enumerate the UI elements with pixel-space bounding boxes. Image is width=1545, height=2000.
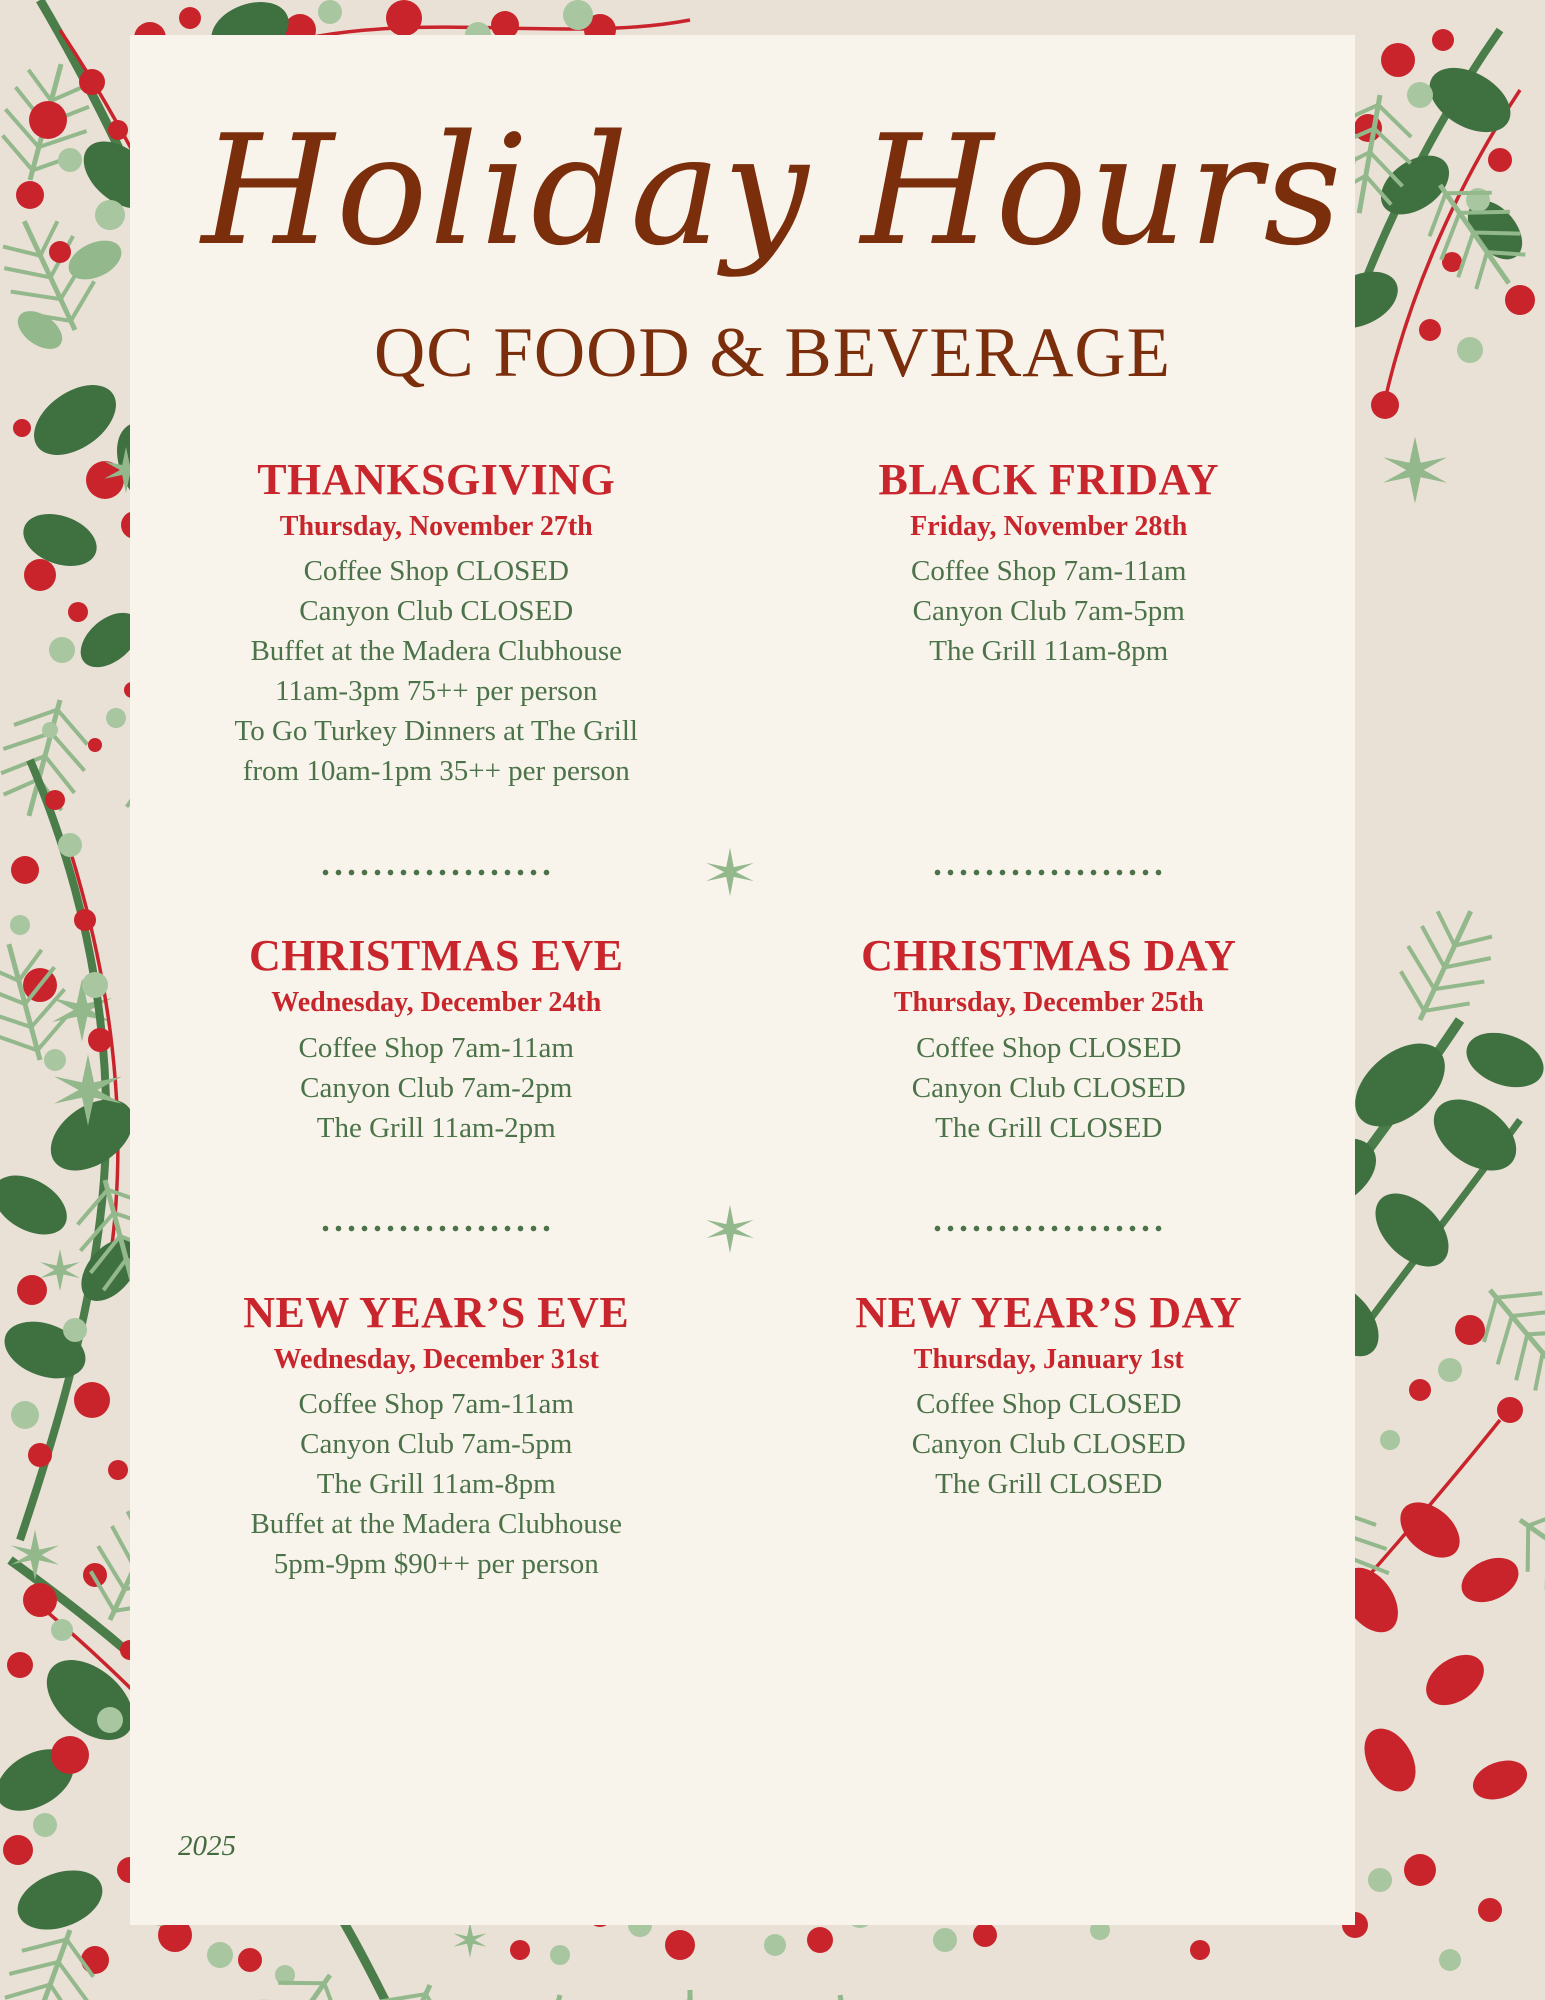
page-title-script: Holiday Hours <box>0 115 1545 267</box>
holiday-hours-line: 11am-3pm 75++ per person <box>140 671 733 711</box>
page-subtitle: QC FOOD & BEVERAGE <box>0 318 1545 389</box>
holiday-name: CHRISTMAS EVE <box>140 931 733 982</box>
holiday-block-new-years-eve: NEW YEAR’S EVE Wednesday, December 31st … <box>130 1288 743 1584</box>
holiday-name: NEW YEAR’S EVE <box>140 1288 733 1339</box>
holiday-date: Thursday, November 27th <box>140 508 733 546</box>
holiday-block-black-friday: BLACK FRIDAY Friday, November 28th Coffe… <box>743 455 1356 791</box>
holiday-hours-line: Canyon Club CLOSED <box>753 1068 1346 1108</box>
holiday-date: Wednesday, December 31st <box>140 1341 733 1379</box>
divider-left <box>130 1224 743 1233</box>
dotted-line <box>319 1224 554 1233</box>
holiday-block-christmas-eve: CHRISTMAS EVE Wednesday, December 24th C… <box>130 931 743 1147</box>
holiday-hours-line: The Grill 11am-8pm <box>753 631 1346 671</box>
holiday-hours-line: Canyon Club 7am-2pm <box>140 1068 733 1108</box>
holiday-block-christmas-day: CHRISTMAS DAY Thursday, December 25th Co… <box>743 931 1356 1147</box>
divider-left <box>130 868 743 877</box>
holiday-hours-line: Coffee Shop CLOSED <box>140 551 733 591</box>
holiday-hours-line: Coffee Shop 7am-11am <box>753 551 1346 591</box>
holiday-block-new-years-day: NEW YEAR’S DAY Thursday, January 1st Cof… <box>743 1288 1356 1584</box>
holiday-row-1: THANKSGIVING Thursday, November 27th Cof… <box>130 455 1355 791</box>
holiday-name: CHRISTMAS DAY <box>753 931 1346 982</box>
section-divider-1 <box>130 837 1355 907</box>
holiday-hours-list: Coffee Shop 7am-11am Canyon Club 7am-2pm… <box>140 1028 733 1148</box>
dotted-line <box>319 868 554 877</box>
holiday-name: BLACK FRIDAY <box>753 455 1346 506</box>
holiday-name: NEW YEAR’S DAY <box>753 1288 1346 1339</box>
holiday-hours-line: The Grill 11am-2pm <box>140 1108 733 1148</box>
holiday-hours-line: Canyon Club CLOSED <box>753 1424 1346 1464</box>
holiday-block-thanksgiving: THANKSGIVING Thursday, November 27th Cof… <box>130 455 743 791</box>
holiday-hours-list: Coffee Shop CLOSED Canyon Club CLOSED Bu… <box>140 551 733 791</box>
holiday-hours-line: The Grill 11am-8pm <box>140 1464 733 1504</box>
dotted-line <box>931 868 1166 877</box>
section-divider-2 <box>130 1194 1355 1264</box>
holiday-hours-line: The Grill CLOSED <box>753 1108 1346 1148</box>
holiday-name: THANKSGIVING <box>140 455 733 506</box>
holiday-row-3: NEW YEAR’S EVE Wednesday, December 31st … <box>130 1288 1355 1584</box>
divider-right <box>743 868 1356 877</box>
holiday-hours-line: from 10am-1pm 35++ per person <box>140 751 733 791</box>
holiday-row-2: CHRISTMAS EVE Wednesday, December 24th C… <box>130 931 1355 1147</box>
holiday-grid: THANKSGIVING Thursday, November 27th Cof… <box>130 455 1355 1584</box>
holiday-date: Thursday, January 1st <box>753 1341 1346 1379</box>
dotted-line <box>931 1224 1166 1233</box>
holiday-hours-list: Coffee Shop 7am-11am Canyon Club 7am-5pm… <box>140 1384 733 1584</box>
holiday-hours-line: Buffet at the Madera Clubhouse <box>140 1504 733 1544</box>
holiday-hours-list: Coffee Shop CLOSED Canyon Club CLOSED Th… <box>753 1028 1346 1148</box>
holiday-date: Wednesday, December 24th <box>140 984 733 1022</box>
holiday-hours-line: Buffet at the Madera Clubhouse <box>140 631 733 671</box>
divider-right <box>743 1224 1356 1233</box>
holiday-hours-line: Coffee Shop 7am-11am <box>140 1384 733 1424</box>
holiday-hours-line: To Go Turkey Dinners at The Grill <box>140 711 733 751</box>
holiday-date: Friday, November 28th <box>753 508 1346 546</box>
holiday-hours-line: Canyon Club 7am-5pm <box>140 1424 733 1464</box>
holiday-hours-line: Canyon Club 7am-5pm <box>753 591 1346 631</box>
holiday-hours-line: Coffee Shop 7am-11am <box>140 1028 733 1068</box>
holiday-hours-line: Coffee Shop CLOSED <box>753 1028 1346 1068</box>
holiday-hours-list: Coffee Shop 7am-11am Canyon Club 7am-5pm… <box>753 551 1346 671</box>
holiday-hours-line: 5pm-9pm $90++ per person <box>140 1544 733 1584</box>
holiday-hours-line: Canyon Club CLOSED <box>140 591 733 631</box>
holiday-hours-line: The Grill CLOSED <box>753 1464 1346 1504</box>
holiday-hours-list: Coffee Shop CLOSED Canyon Club CLOSED Th… <box>753 1384 1346 1504</box>
holiday-date: Thursday, December 25th <box>753 984 1346 1022</box>
year-label: 2025 <box>178 1830 236 1863</box>
holiday-hours-line: Coffee Shop CLOSED <box>753 1384 1346 1424</box>
